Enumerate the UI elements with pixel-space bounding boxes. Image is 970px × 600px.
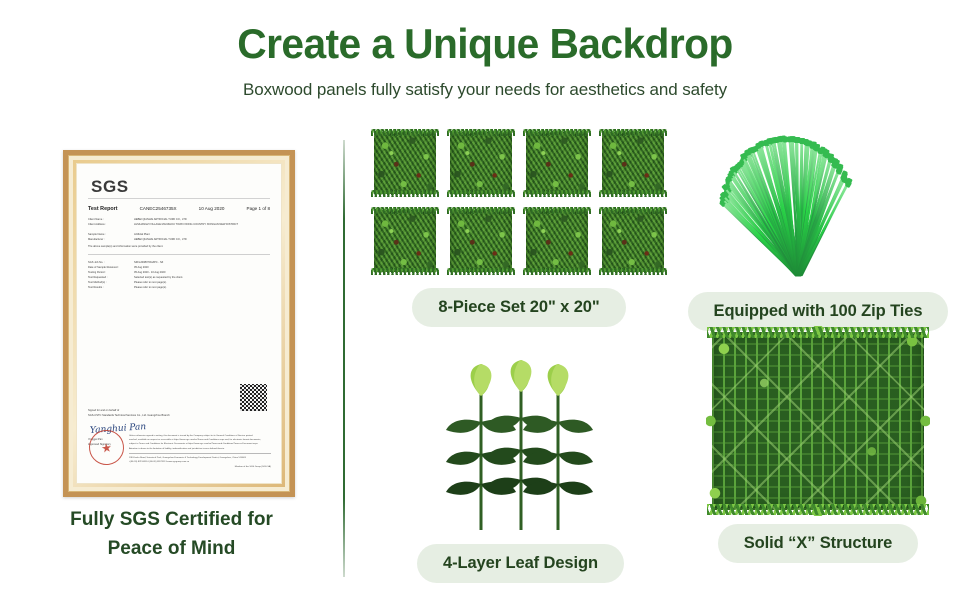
caption-line-1: Fully SGS Certified for bbox=[0, 505, 343, 534]
leaf-fringe-overlay bbox=[706, 326, 930, 516]
x-brace-backing-icon bbox=[712, 332, 924, 510]
feature-x-structure: Solid “X” Structure bbox=[673, 332, 963, 563]
zip-tie-bundle-icon bbox=[711, 132, 926, 282]
feature-label-x-structure: Solid “X” Structure bbox=[718, 524, 918, 563]
boxwood-panel bbox=[374, 210, 436, 272]
certificate-caption: Fully SGS Certified for Peace of Mind bbox=[0, 505, 343, 564]
boxwood-panel bbox=[602, 132, 664, 194]
report-page: Page 1 of 8 bbox=[247, 206, 271, 211]
panel-edge-top bbox=[707, 327, 929, 338]
table-row: Client Address : LIZHUANGZI VILLAGE MAOZ… bbox=[88, 223, 270, 228]
feature-leaf-design: 4-Layer Leaf Design bbox=[403, 350, 638, 583]
leaf-stems-svg bbox=[436, 350, 606, 530]
certificate-section: SGS Test Report CANEC2546735X 10 Aug 202… bbox=[0, 122, 343, 600]
certificate-title-row: Test Report CANEC2546735X 10 Aug 2020 Pa… bbox=[88, 206, 270, 212]
panel-edge-bottom bbox=[707, 504, 929, 515]
boxwood-panel bbox=[450, 210, 512, 272]
field-value: HEBEI QIANHAI ARTIFICIAL TURF CO., LTD bbox=[134, 238, 270, 243]
boxwood-panel bbox=[602, 210, 664, 272]
certificate-footer: Unless otherwise agreed in writing, this… bbox=[129, 434, 271, 469]
table-row: Test Results : Please refer to next page… bbox=[88, 286, 270, 291]
field-value: Please refer to next page(s). bbox=[134, 286, 270, 291]
certificate-note: The above sample(s) and information were… bbox=[88, 245, 270, 248]
qr-code-icon bbox=[240, 384, 267, 411]
feature-label-leaf-design: 4-Layer Leaf Design bbox=[417, 544, 624, 583]
sgs-logo: SGS bbox=[91, 177, 270, 197]
field-label: Test Results : bbox=[88, 286, 134, 291]
page-subtitle: Boxwood panels fully satisfy your needs … bbox=[0, 68, 970, 100]
feature-label-eight-piece-set: 8-Piece Set 20" x 20" bbox=[412, 288, 625, 327]
boxwood-panel bbox=[526, 210, 588, 272]
field-label: Manufacturer : bbox=[88, 238, 134, 243]
report-ref: CANEC2546735X bbox=[140, 206, 177, 211]
feature-zip-ties: Equipped with 100 Zip Ties bbox=[673, 132, 963, 331]
certificate-document: SGS Test Report CANEC2546735X 10 Aug 202… bbox=[76, 163, 282, 484]
boxwood-panel-grid bbox=[374, 132, 664, 272]
logo-underline bbox=[88, 198, 270, 199]
caption-line-2: Peace of Mind bbox=[0, 534, 343, 563]
report-date: 10 Aug 2020 bbox=[199, 206, 225, 211]
boxwood-panel bbox=[450, 132, 512, 194]
feature-eight-piece-set: 8-Piece Set 20" x 20" bbox=[369, 132, 669, 327]
page-title: Create a Unique Backdrop bbox=[15, 0, 956, 68]
footer-terms-line: Attention is drawn to the limitation of … bbox=[129, 447, 271, 451]
table-row: Manufacturer : HEBEI QIANHAI ARTIFICIAL … bbox=[88, 238, 270, 243]
field-value: LIZHUANGZI VILLAGE MAOZHOU TOWN XIONG CO… bbox=[134, 223, 270, 228]
layered-leaf-stems-icon bbox=[436, 350, 606, 530]
report-title: Test Report bbox=[88, 206, 118, 212]
certificate-rule bbox=[88, 254, 270, 255]
page-header: Create a Unique Backdrop Boxwood panels … bbox=[0, 0, 970, 122]
boxwood-panel bbox=[374, 132, 436, 194]
field-label: Client Address : bbox=[88, 223, 134, 228]
footer-member-note: Member of the SGS Group (SGS SA) bbox=[129, 465, 271, 469]
certificate-frame: SGS Test Report CANEC2546735X 10 Aug 202… bbox=[63, 150, 295, 497]
boxwood-panel bbox=[526, 132, 588, 194]
features-section: 8-Piece Set 20" x 20" Equipped with 100 … bbox=[343, 122, 970, 600]
